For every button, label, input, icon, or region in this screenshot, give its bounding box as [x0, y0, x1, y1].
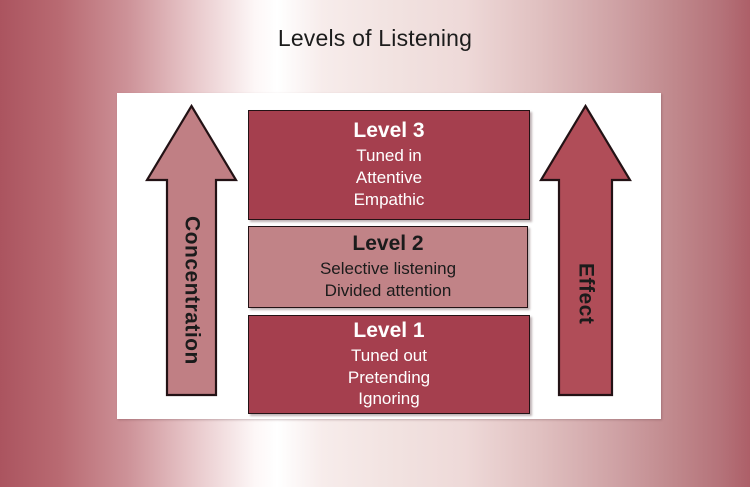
level-3-line-2: Attentive [356, 167, 422, 189]
page-title: Levels of Listening [0, 25, 750, 52]
up-arrow-icon [538, 103, 633, 399]
level-1-line-1: Tuned out [351, 345, 427, 367]
level-1-title: Level 1 [353, 319, 424, 344]
level-3-line-1: Tuned in [356, 145, 422, 167]
level-3-line-3: Empathic [354, 189, 425, 211]
slide-canvas: Levels of Listening Concentration Effect… [0, 0, 750, 487]
level-2-line-2: Divided attention [325, 280, 452, 302]
level-2-box: Level 2 Selective listening Divided atte… [248, 226, 528, 308]
level-3-title: Level 3 [353, 119, 424, 144]
level-1-line-3: Ignoring [358, 388, 419, 410]
level-1-line-2: Pretending [348, 367, 430, 389]
concentration-arrow: Concentration [144, 103, 239, 399]
level-2-line-1: Selective listening [320, 258, 456, 280]
level-2-title: Level 2 [352, 232, 423, 257]
level-3-box: Level 3 Tuned in Attentive Empathic [248, 110, 530, 220]
up-arrow-icon [144, 103, 239, 399]
effect-arrow: Effect [538, 103, 633, 399]
level-1-box: Level 1 Tuned out Pretending Ignoring [248, 315, 530, 414]
